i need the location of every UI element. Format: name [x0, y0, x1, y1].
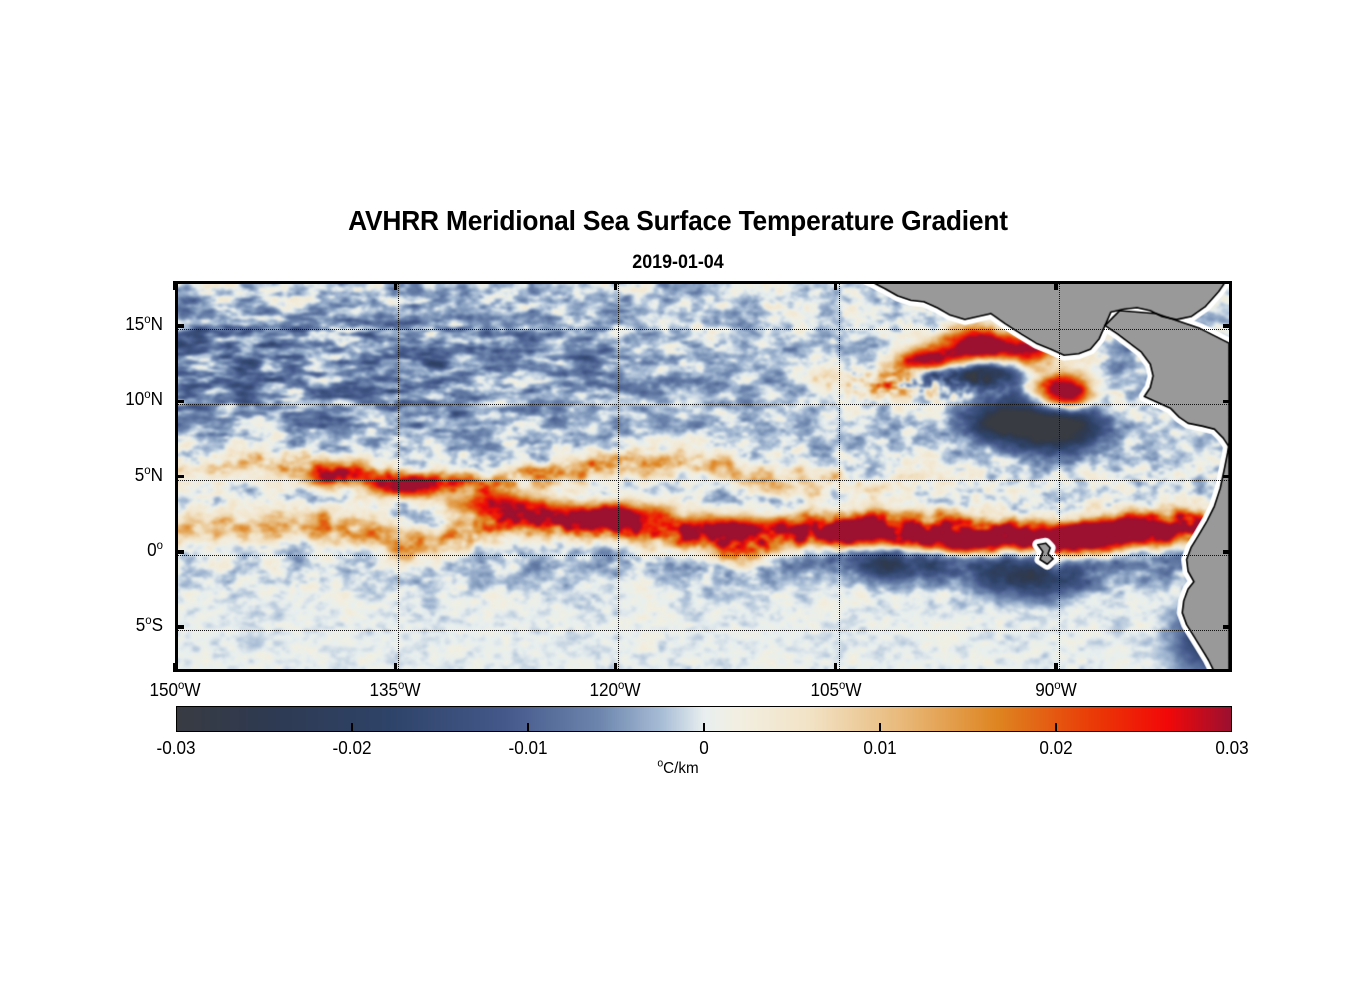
tick-lon-105°W — [834, 663, 838, 672]
xtick-label-120°W: 120oW — [539, 680, 691, 701]
colorbar-label--0.02: -0.02 — [286, 738, 419, 759]
ytick-label-0°: 0o — [51, 540, 163, 561]
colorbar-label-0.03: 0.03 — [1166, 738, 1299, 759]
gridline-lon-120°W — [618, 284, 619, 669]
tick-lat-5°S — [175, 625, 184, 629]
figure-canvas: AVHRR Meridional Sea Surface Temperature… — [0, 0, 1356, 1000]
colorbar-tick-0.02 — [1055, 723, 1057, 732]
colorbar-unit-label: oC/km — [34, 760, 1322, 778]
xtick-label-90°W: 90oW — [980, 680, 1132, 701]
xtick-label-105°W: 105oW — [760, 680, 912, 701]
xtick-label-135°W: 135oW — [319, 680, 471, 701]
ytick-label-15°N: 15oN — [51, 314, 163, 335]
gridline-lon-90°W — [1059, 284, 1060, 669]
tick-lat-5°S — [1223, 625, 1232, 629]
colorbar-tick--0.01 — [527, 723, 529, 732]
colorbar-tick--0.02 — [351, 723, 353, 732]
tick-lon-105°W — [834, 281, 838, 290]
gridline-lat-15°N — [178, 329, 1229, 330]
map-gridlines — [178, 284, 1229, 669]
tick-lon-135°W — [394, 663, 398, 672]
tick-lat-0° — [175, 550, 184, 554]
gridline-lat-5°S — [178, 630, 1229, 631]
ytick-label-5°S: 5oS — [51, 615, 163, 636]
colorbar-tick-0.01 — [879, 723, 881, 732]
gridline-lon-105°W — [839, 284, 840, 669]
xtick-label-150°W: 150oW — [99, 680, 251, 701]
gridline-lat-0° — [178, 555, 1229, 556]
tick-lat-10°N — [175, 400, 184, 404]
gridline-lon-135°W — [398, 284, 399, 669]
colorbar-label-0.02: 0.02 — [990, 738, 1123, 759]
tick-lon-135°W — [394, 281, 398, 290]
tick-lat-15°N — [1223, 324, 1232, 328]
tick-lon-90°W — [1054, 663, 1058, 672]
tick-lon-120°W — [614, 663, 618, 672]
tick-lon-150°W — [173, 281, 177, 290]
tick-lat-0° — [1223, 550, 1232, 554]
figure-subtitle: 2019-01-04 — [41, 252, 1316, 274]
tick-lat-5°N — [175, 475, 184, 479]
colorbar-label--0.03: -0.03 — [110, 738, 243, 759]
tick-lat-15°N — [175, 324, 184, 328]
colorbar-label-0: 0 — [638, 738, 771, 759]
gridline-lat-5°N — [178, 480, 1229, 481]
tick-lat-10°N — [1223, 400, 1232, 404]
figure-title: AVHRR Meridional Sea Surface Temperature… — [41, 205, 1316, 237]
colorbar-label--0.01: -0.01 — [462, 738, 595, 759]
gridline-lat-10°N — [178, 404, 1229, 405]
map-axes[interactable] — [175, 281, 1232, 672]
colorbar-tick-0 — [703, 723, 705, 732]
ytick-label-10°N: 10oN — [51, 389, 163, 410]
tick-lon-120°W — [614, 281, 618, 290]
colorbar-label-0.01: 0.01 — [814, 738, 947, 759]
tick-lon-90°W — [1054, 281, 1058, 290]
ytick-label-5°N: 5oN — [51, 465, 163, 486]
tick-lon-150°W — [173, 663, 177, 672]
tick-lat-5°N — [1223, 475, 1232, 479]
